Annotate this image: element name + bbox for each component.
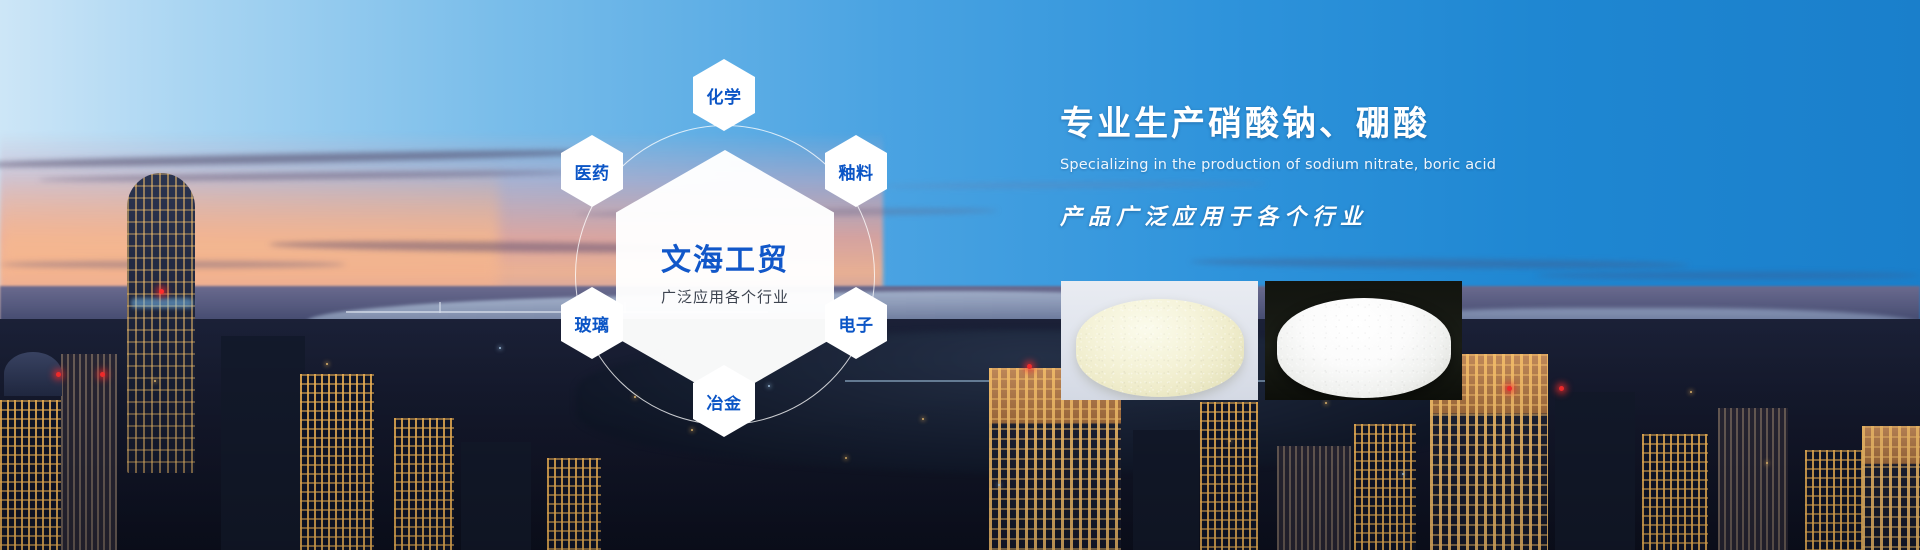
promotional-banner: 化学 釉料 电子 冶金 玻璃 医药 文海工贸 广泛应用各个行业 专业生产硝酸钠、… [0, 0, 1920, 550]
building [0, 400, 70, 550]
script-tagline: 产品广泛应用于各个行业 [1060, 199, 1700, 231]
building [1277, 446, 1351, 550]
hex-node-label: 化学 [707, 83, 742, 108]
product-photo-boric-acid[interactable] [1265, 281, 1462, 400]
building [221, 336, 305, 550]
building [1200, 402, 1258, 550]
aviation-light [56, 372, 61, 377]
building [1862, 426, 1920, 550]
page-title: 专业生产硝酸钠、硼酸 [1060, 104, 1700, 145]
powder-pile [1076, 299, 1244, 397]
industry-hex-diagram: 化学 釉料 电子 冶金 玻璃 医药 文海工贸 广泛应用各个行业 [525, 25, 925, 525]
powder-pile [1277, 298, 1451, 398]
building [300, 374, 374, 550]
building [61, 354, 117, 550]
city-light [154, 380, 156, 382]
city-light [499, 347, 501, 349]
building [1133, 430, 1199, 550]
english-subtitle: Specializing in the production of sodium… [1060, 157, 1700, 173]
building [1718, 408, 1788, 550]
product-photo-strip [1061, 281, 1462, 400]
hex-node-label: 釉料 [839, 159, 874, 184]
hex-node-chemistry[interactable]: 化学 [693, 59, 755, 131]
building [1354, 424, 1416, 550]
city-light [1325, 402, 1327, 404]
city-light [1229, 440, 1231, 442]
powder-grain-texture [1277, 298, 1451, 398]
powder-grain-texture [1076, 299, 1244, 397]
hex-node-label: 电子 [839, 311, 874, 336]
hex-node-label: 医药 [575, 159, 610, 184]
building [394, 418, 454, 550]
building [1805, 450, 1867, 550]
city-light [1690, 391, 1692, 393]
tower-light-band [131, 298, 193, 308]
brand-name: 文海工贸 [661, 244, 789, 277]
building [1642, 434, 1708, 550]
building [461, 442, 531, 550]
headline-block: 专业生产硝酸钠、硼酸 Specializing in the productio… [1060, 104, 1700, 231]
product-photo-sodium-nitrate[interactable] [1061, 281, 1258, 400]
hex-node-label: 玻璃 [575, 311, 610, 336]
aviation-light [100, 372, 105, 377]
brand-tagline: 广泛应用各个行业 [661, 286, 789, 307]
domed-building [4, 352, 62, 396]
aviation-light [1559, 386, 1564, 391]
building [1555, 392, 1635, 550]
city-light [1402, 473, 1404, 475]
city-skyline-background [0, 0, 1920, 550]
hero-tower [127, 173, 195, 473]
aviation-light [1507, 386, 1512, 391]
aviation-light [1027, 364, 1032, 369]
